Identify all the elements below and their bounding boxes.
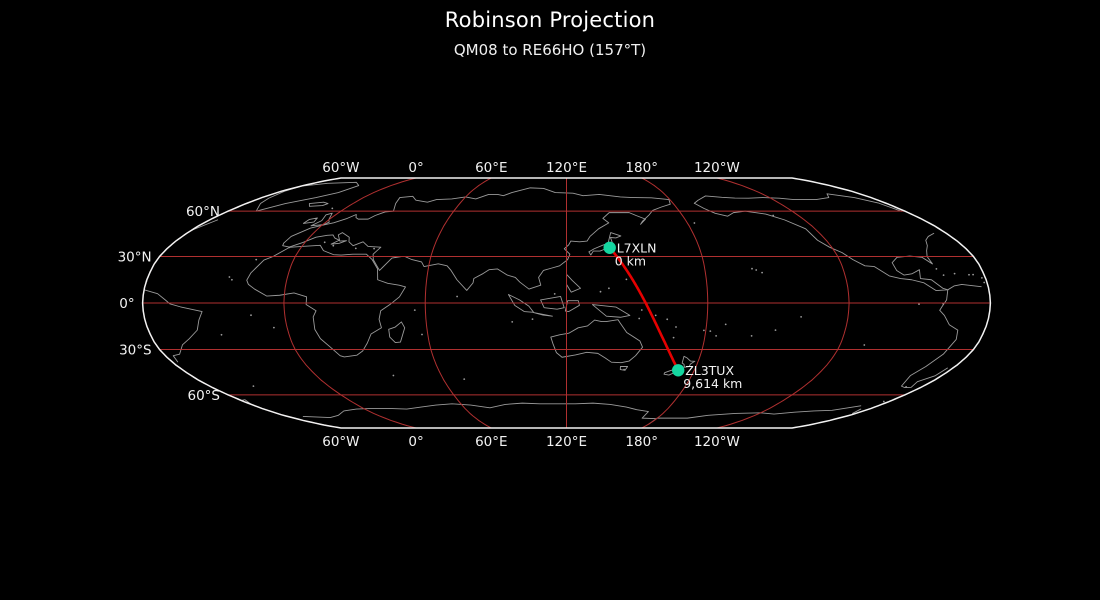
station-marker-l7xln[interactable]: [604, 242, 616, 254]
coastline-path: [534, 313, 553, 317]
lat-tick-1: 30°N: [118, 250, 152, 266]
lat-tick-2: 0°: [119, 296, 134, 312]
island-dot: [229, 276, 231, 278]
island-dot: [863, 344, 865, 346]
island-dot: [800, 316, 802, 318]
coastline-path: [303, 218, 317, 223]
lon-tick-bottom-3: 180°: [625, 434, 658, 450]
island-dot: [332, 245, 334, 247]
lat-tick-4: 60°S: [188, 388, 221, 404]
island-dot: [414, 309, 416, 311]
lon-tick-bottom-2: 120°E: [546, 434, 587, 450]
lon-tick-top-1: 60°E: [475, 160, 507, 176]
coastline-path: [283, 188, 671, 291]
station-distance-label: 9,614 km: [683, 376, 742, 391]
island-dot: [755, 269, 757, 271]
coastline-path: [551, 320, 643, 363]
island-dot: [255, 259, 257, 261]
island-dot: [456, 296, 458, 298]
island-dot: [936, 268, 938, 270]
lon-tick-top-4: 120°W: [694, 160, 740, 176]
coastline-path: [256, 182, 359, 211]
island-dot: [703, 330, 705, 332]
island-dot: [725, 324, 727, 326]
island-dot: [751, 335, 753, 337]
coastline-path: [567, 274, 581, 292]
lat-tick-0: 60°N: [186, 204, 220, 220]
island-dot: [761, 272, 763, 274]
island-dot: [355, 248, 357, 250]
island-dot: [954, 273, 956, 275]
coastline-path: [565, 301, 579, 312]
station-marker-zl3tux[interactable]: [672, 364, 684, 376]
coastline-path: [657, 406, 861, 418]
island-dot: [751, 268, 753, 270]
lon-tick-top-0: 0°: [408, 160, 423, 176]
lon-tick-bottom-5: 60°W: [322, 434, 359, 450]
island-dot: [393, 375, 395, 377]
island-dot: [608, 287, 610, 289]
island-dot: [943, 274, 945, 276]
island-dot: [905, 386, 907, 388]
island-dot: [972, 274, 974, 276]
island-dot: [554, 293, 556, 295]
robinson-map-canvas: L7XLN0 kmZL3TUX9,614 km 0°0°60°E60°E120°…: [0, 0, 1100, 600]
coastline-path: [901, 310, 957, 387]
lon-tick-bottom-0: 0°: [408, 434, 423, 450]
island-dot: [638, 318, 640, 320]
coastline-path: [940, 284, 981, 310]
lon-tick-top-2: 120°E: [546, 160, 587, 176]
markers-layer: L7XLN0 kmZL3TUX9,614 km: [604, 240, 743, 390]
island-dot: [883, 401, 885, 403]
map-figure: Robinson Projection QM08 to RE66HO (157°…: [0, 0, 1100, 600]
island-dot: [675, 326, 677, 328]
island-dot: [511, 321, 513, 323]
island-dot: [655, 315, 657, 317]
island-dot: [289, 247, 291, 249]
lat-tick-3: 30°S: [119, 343, 152, 359]
lon-tick-top-3: 180°: [625, 160, 658, 176]
island-dot: [983, 282, 985, 284]
island-dot: [968, 274, 970, 276]
island-dot: [250, 314, 252, 316]
station-distance-label: 0 km: [615, 253, 646, 268]
island-dot: [623, 369, 625, 371]
island-dot: [221, 334, 223, 336]
island-dot: [600, 291, 602, 293]
island-dot: [666, 318, 668, 320]
island-dot: [463, 378, 465, 380]
island-dot: [715, 335, 717, 337]
island-dot: [421, 334, 423, 336]
island-dot: [641, 309, 643, 311]
island-dot: [709, 330, 711, 332]
island-dot: [673, 337, 675, 339]
coastline-path: [144, 290, 202, 362]
island-dot: [775, 329, 777, 331]
coastline-path: [592, 305, 629, 318]
coastline-path: [694, 203, 947, 290]
island-dot: [772, 215, 774, 217]
island-dot: [694, 222, 696, 224]
coastline-path: [389, 322, 405, 343]
coastline-path: [247, 245, 406, 357]
island-dot: [231, 279, 233, 281]
island-dot: [331, 208, 333, 210]
island-dot: [324, 241, 326, 243]
graticule-layer: [143, 178, 991, 428]
coastline-path: [309, 202, 328, 206]
lon-tick-top-5: 60°W: [322, 160, 359, 176]
lon-tick-bottom-1: 60°E: [475, 434, 507, 450]
coastline-path: [694, 194, 901, 211]
island-dot: [626, 279, 628, 281]
island-dot: [273, 327, 275, 329]
lon-tick-bottom-4: 120°W: [694, 434, 740, 450]
island-dot: [253, 385, 255, 387]
island-dot: [373, 248, 375, 250]
island-dot: [532, 318, 534, 320]
coastline-path: [191, 220, 217, 230]
island-dot: [981, 277, 983, 279]
